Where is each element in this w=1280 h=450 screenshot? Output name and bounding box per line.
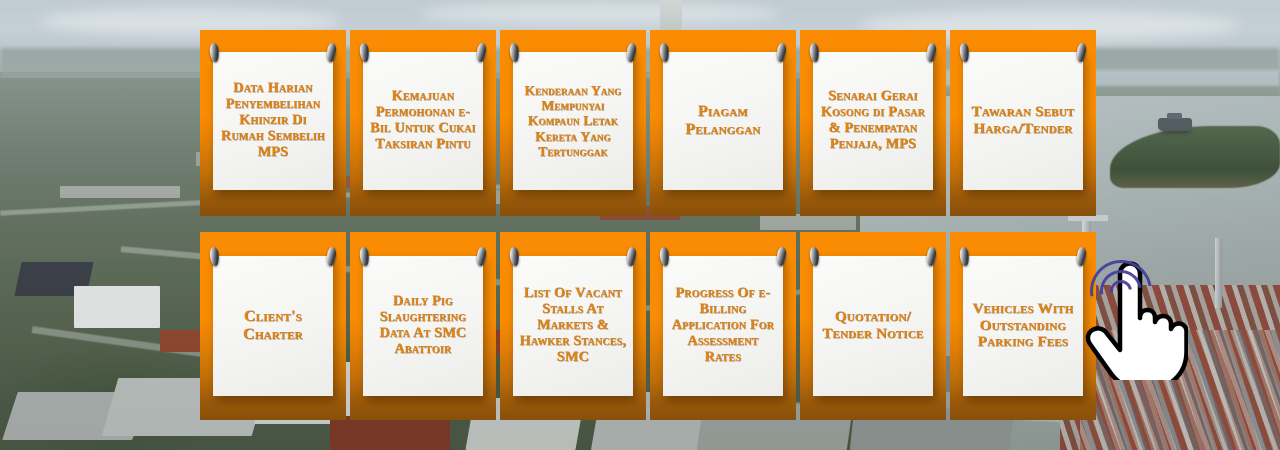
paper-card: Data Harian Penyembelihan Khinzir Di Rum… — [213, 52, 333, 190]
tile-data-harian-penyembelihan[interactable]: Data Harian Penyembelihan Khinzir Di Rum… — [200, 30, 346, 216]
paper-card: Daily Pig Slaughtering Data At SMC Abatt… — [363, 256, 483, 396]
tile-list-of-vacant-stalls[interactable]: List Of Vacant Stalls At Markets & Hawke… — [500, 232, 646, 420]
tile-title: Tawaran Sebut Harga/Tender — [969, 104, 1077, 138]
clip-icon — [659, 43, 670, 63]
clip-icon — [1076, 43, 1087, 63]
tile-title: Client's Charter — [219, 308, 327, 344]
tile-title: Quotation/ Tender Notice — [819, 309, 927, 343]
clip-icon — [476, 247, 487, 267]
clip-icon — [359, 43, 370, 63]
services-grid: Data Harian Penyembelihan Khinzir Di Rum… — [200, 30, 1080, 420]
tile-kenderaan-kompaun-letak-kereta[interactable]: Kenderaan Yang Mempunyai Kompaun Letak K… — [500, 30, 646, 216]
tile-quotation-tender-notice[interactable]: Quotation/ Tender Notice — [800, 232, 946, 420]
clip-icon — [659, 247, 670, 267]
tile-title: Piagam Pelanggan — [669, 103, 777, 139]
paper-card: Progress Of e-Billing Application For As… — [663, 256, 783, 396]
clip-icon — [326, 43, 337, 63]
clip-icon — [476, 43, 487, 63]
clip-icon — [1076, 247, 1087, 267]
clip-icon — [626, 247, 637, 267]
paper-card: Quotation/ Tender Notice — [813, 256, 933, 396]
tile-title: List Of Vacant Stalls At Markets & Hawke… — [519, 286, 627, 366]
paper-card: Client's Charter — [213, 256, 333, 396]
tile-title: Vehicles With Outstanding Parking Fees — [969, 301, 1077, 351]
screen: Data Harian Penyembelihan Khinzir Di Rum… — [0, 0, 1280, 450]
clip-icon — [509, 43, 520, 63]
paper-card: List Of Vacant Stalls At Markets & Hawke… — [513, 256, 633, 396]
tile-piagam-pelanggan[interactable]: Piagam Pelanggan — [650, 30, 796, 216]
clip-icon — [809, 43, 820, 63]
tile-title: Kemajuan Permohonan e-Bil Untuk Cukai Ta… — [369, 89, 477, 153]
paper-card: Senarai Gerai Kosong di Pasar & Penempat… — [813, 52, 933, 190]
clip-icon — [509, 247, 520, 267]
clip-icon — [626, 43, 637, 63]
clip-icon — [959, 43, 970, 63]
tile-senarai-gerai-kosong[interactable]: Senarai Gerai Kosong di Pasar & Penempat… — [800, 30, 946, 216]
paper-card: Vehicles With Outstanding Parking Fees — [963, 256, 1083, 396]
tile-title: Daily Pig Slaughtering Data At SMC Abatt… — [369, 294, 477, 358]
clip-icon — [776, 43, 787, 63]
clip-icon — [776, 247, 787, 267]
clip-icon — [959, 247, 970, 267]
tile-vehicles-outstanding-parking-fees[interactable]: Vehicles With Outstanding Parking Fees — [950, 232, 1096, 420]
paper-card: Tawaran Sebut Harga/Tender — [963, 52, 1083, 190]
tile-daily-pig-slaughtering-data[interactable]: Daily Pig Slaughtering Data At SMC Abatt… — [350, 232, 496, 420]
tile-title: Data Harian Penyembelihan Khinzir Di Rum… — [219, 81, 327, 161]
clip-icon — [809, 247, 820, 267]
tile-clients-charter[interactable]: Client's Charter — [200, 232, 346, 420]
clip-icon — [326, 247, 337, 267]
clip-icon — [926, 247, 937, 267]
paper-card: Kemajuan Permohonan e-Bil Untuk Cukai Ta… — [363, 52, 483, 190]
clip-icon — [359, 247, 370, 267]
clip-icon — [209, 247, 220, 267]
grid-row-2: Client's Charter Daily Pig Slaughtering … — [200, 232, 1080, 418]
tile-title: Kenderaan Yang Mempunyai Kompaun Letak K… — [519, 83, 627, 159]
tile-tawaran-sebut-harga-tender[interactable]: Tawaran Sebut Harga/Tender — [950, 30, 1096, 216]
tile-title: Progress Of e-Billing Application For As… — [669, 286, 777, 366]
tile-progress-ebilling-application[interactable]: Progress Of e-Billing Application For As… — [650, 232, 796, 420]
tile-kemajuan-permohonan-ebil[interactable]: Kemajuan Permohonan e-Bil Untuk Cukai Ta… — [350, 30, 496, 216]
paper-card: Piagam Pelanggan — [663, 52, 783, 190]
grid-row-1: Data Harian Penyembelihan Khinzir Di Rum… — [200, 30, 1080, 216]
paper-card: Kenderaan Yang Mempunyai Kompaun Letak K… — [513, 52, 633, 190]
tile-title: Senarai Gerai Kosong di Pasar & Penempat… — [819, 89, 927, 153]
clip-icon — [209, 43, 220, 63]
clip-icon — [926, 43, 937, 63]
